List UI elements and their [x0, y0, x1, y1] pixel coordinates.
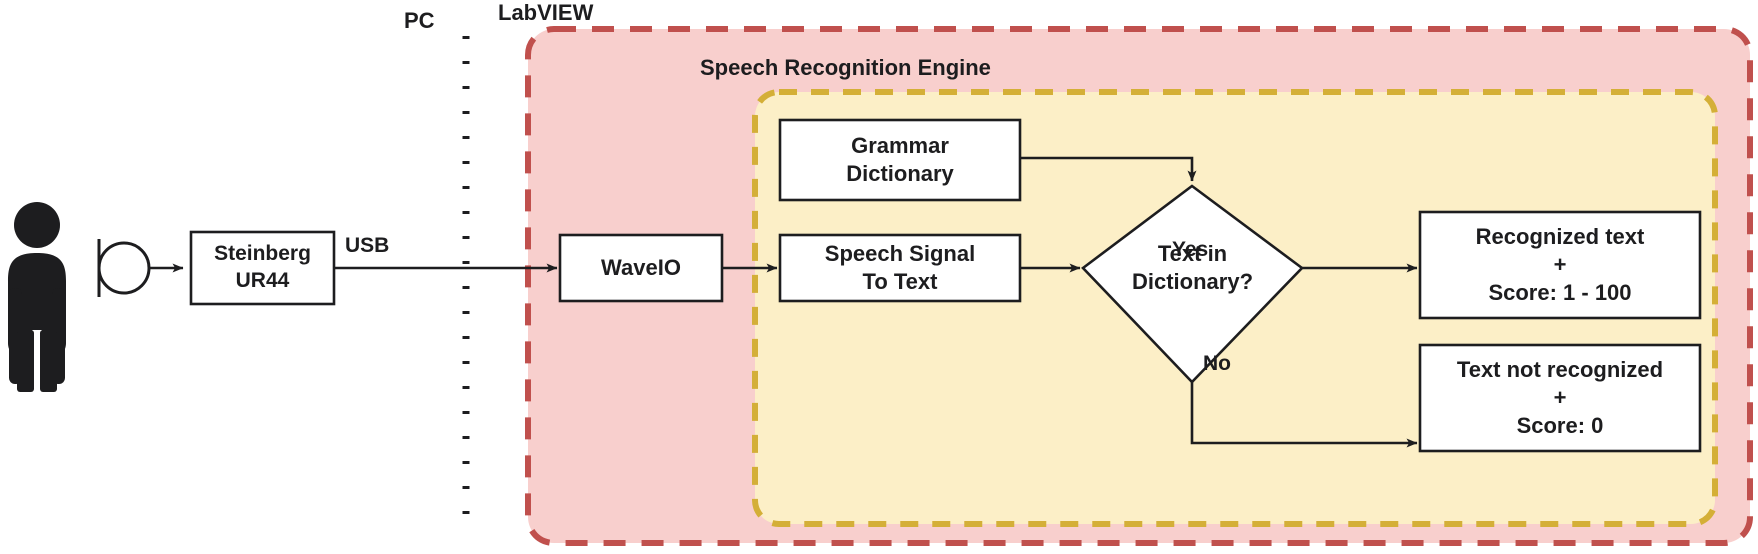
microphone-icon — [99, 239, 149, 297]
node-text-not-recognized — [1420, 345, 1700, 451]
node-speech-signal-to-text — [780, 235, 1020, 301]
group-label-labview: LabVIEW — [498, 0, 593, 26]
diagram-svg — [0, 0, 1758, 554]
diagram-canvas: PC LabVIEW Speech Recognition Engine USB… — [0, 0, 1758, 554]
person-icon — [8, 202, 66, 392]
node-waveio — [560, 235, 722, 301]
edge-label-no: No — [1203, 352, 1231, 376]
node-recognized-text — [1420, 212, 1700, 318]
edge-label-usb: USB — [345, 234, 389, 258]
node-grammar-dictionary — [780, 120, 1020, 200]
edge-label-yes: Yes — [1172, 238, 1208, 262]
group-label-pc: PC — [404, 8, 435, 34]
node-steinberg-ur44 — [191, 232, 334, 304]
group-label-speech-recognition-engine: Speech Recognition Engine — [700, 55, 991, 81]
